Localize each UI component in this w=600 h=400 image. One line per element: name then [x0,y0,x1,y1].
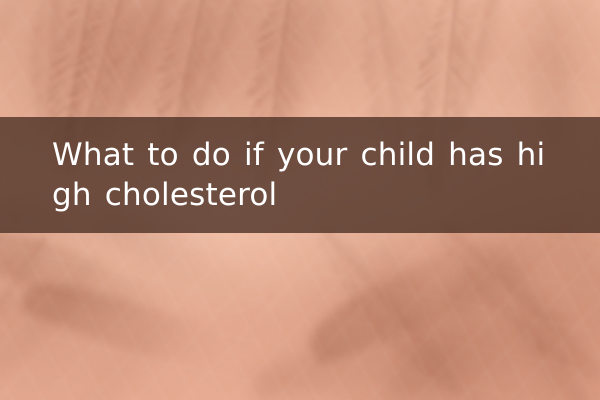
article-title: What to do if your child has hi gh chole… [52,135,582,215]
thumbnail-canvas: What to do if your child has hi gh chole… [0,0,600,400]
caption-band: What to do if your child has hi gh chole… [0,117,600,233]
